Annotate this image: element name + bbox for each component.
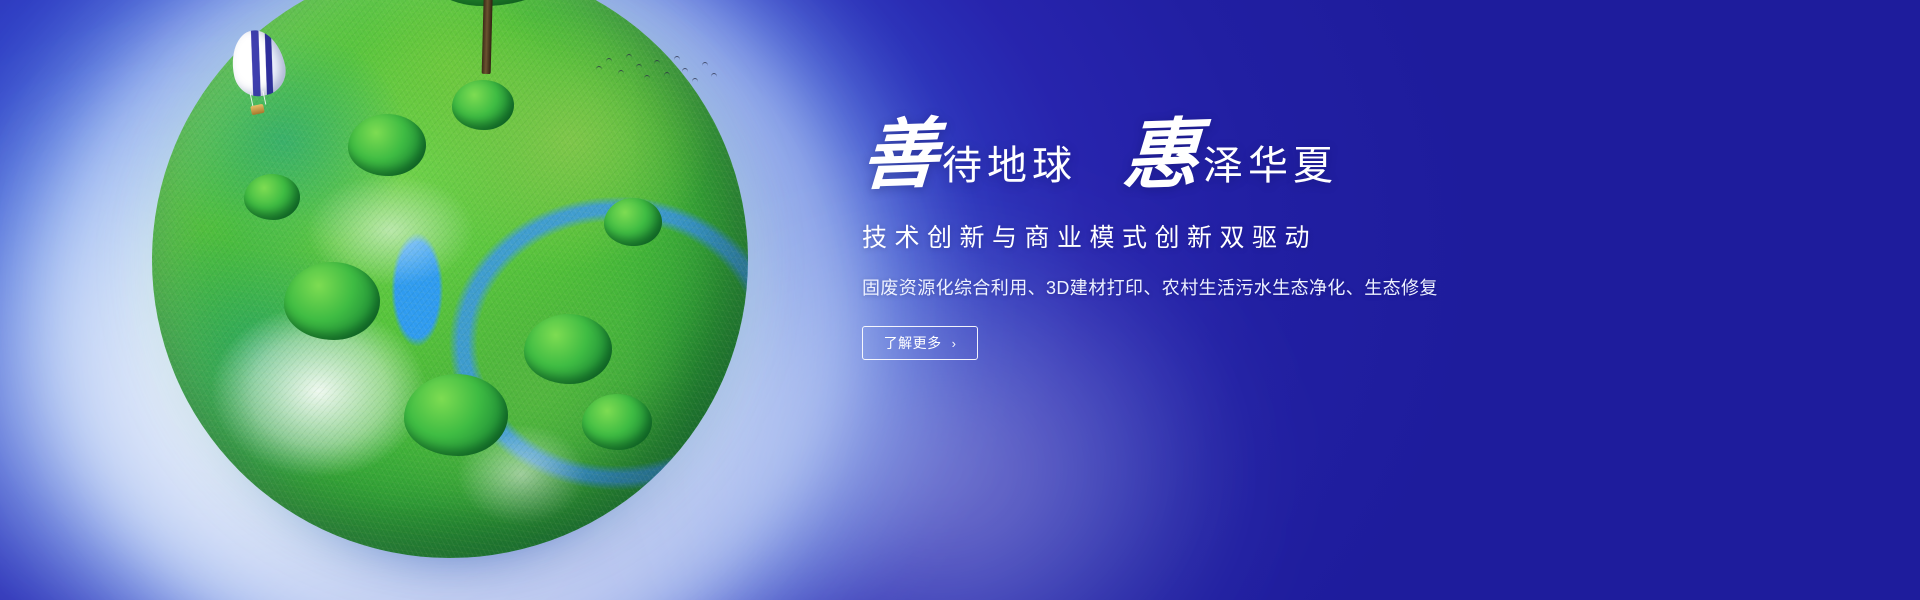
bird-icon <box>702 62 708 66</box>
hot-air-balloon-icon <box>232 30 288 126</box>
bird-icon <box>654 60 660 64</box>
learn-more-label: 了解更多 <box>884 333 942 353</box>
bird-icon <box>626 54 632 58</box>
bird-icon <box>664 72 670 76</box>
bird-icon <box>682 68 688 72</box>
chevron-right-icon: › <box>952 336 957 351</box>
balloon-basket <box>250 104 265 116</box>
bird-icon <box>711 73 717 77</box>
hero-description: 固废资源化综合利用、3D建材打印、农村生活污水生态净化、生态修复 <box>862 274 1562 300</box>
balloon-envelope <box>226 25 291 100</box>
headline-script-char-2: 惠 <box>1121 119 1201 194</box>
bird-icon <box>644 75 650 79</box>
bird-icon <box>596 66 602 70</box>
hero-banner: 善 待地球 惠 泽华夏 技术创新与商业模式创新双驱动 固废资源化综合利用、3D建… <box>0 0 1920 600</box>
hero-headline: 善 待地球 惠 泽华夏 <box>862 120 1562 192</box>
bird-icon <box>692 78 698 82</box>
bird-icon <box>636 64 642 68</box>
headline-rest-2: 泽华夏 <box>1203 146 1338 186</box>
headline-script-char-1: 善 <box>860 119 940 194</box>
bird-icon <box>606 58 612 62</box>
headline-rest-1: 待地球 <box>942 146 1077 186</box>
hero-copy: 善 待地球 惠 泽华夏 技术创新与商业模式创新双驱动 固废资源化综合利用、3D建… <box>862 120 1562 360</box>
learn-more-button[interactable]: 了解更多 › <box>862 326 978 360</box>
bird-icon <box>674 56 680 60</box>
bird-icon <box>618 70 624 74</box>
bird-flock-icon <box>592 48 722 90</box>
hero-subtitle: 技术创新与商业模式创新双驱动 <box>862 218 1562 254</box>
